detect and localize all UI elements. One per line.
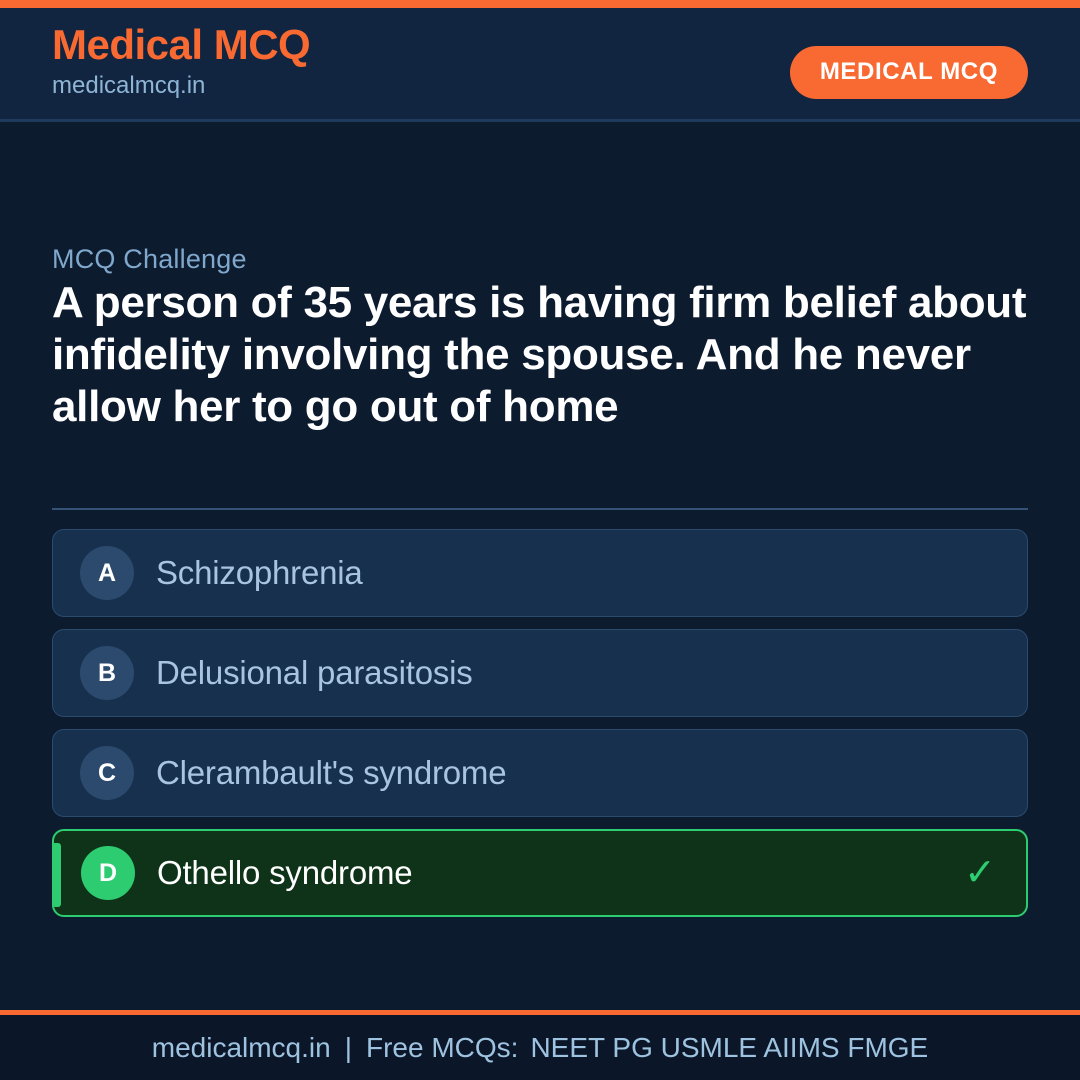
option-letter-badge: A bbox=[80, 546, 134, 600]
header-badge: MEDICAL MCQ bbox=[790, 46, 1028, 99]
top-accent-bar bbox=[0, 0, 1080, 8]
footer-exams-label: Free MCQs: bbox=[366, 1032, 518, 1064]
main-content: MCQ Challenge A person of 35 years is ha… bbox=[0, 125, 1080, 1010]
option-label: Schizophrenia bbox=[156, 554, 363, 592]
option-letter-badge: C bbox=[80, 746, 134, 800]
option-label: Othello syndrome bbox=[157, 854, 412, 892]
question-divider bbox=[52, 508, 1028, 510]
page-footer: medicalmcq.in | Free MCQs: NEET PG USMLE… bbox=[0, 1010, 1080, 1080]
option-letter-badge: D bbox=[81, 846, 135, 900]
footer-site: medicalmcq.in bbox=[152, 1032, 331, 1064]
option-c[interactable]: C Clerambault's syndrome bbox=[52, 729, 1028, 817]
options-list: A Schizophrenia B Delusional parasitosis… bbox=[52, 529, 1028, 929]
option-letter-badge: B bbox=[80, 646, 134, 700]
correct-accent-bar bbox=[54, 843, 61, 907]
option-b[interactable]: B Delusional parasitosis bbox=[52, 629, 1028, 717]
brand-block: Medical MCQ medicalmcq.in bbox=[52, 22, 310, 104]
option-d[interactable]: D Othello syndrome ✓ bbox=[52, 829, 1028, 917]
footer-exams: NEET PG USMLE AIIMS FMGE bbox=[518, 1032, 928, 1064]
page-header: Medical MCQ medicalmcq.in MEDICAL MCQ bbox=[0, 8, 1080, 122]
brand-title: Medical MCQ bbox=[52, 22, 310, 67]
option-a[interactable]: A Schizophrenia bbox=[52, 529, 1028, 617]
mcq-challenge-label: MCQ Challenge bbox=[52, 244, 247, 275]
footer-separator: | bbox=[331, 1032, 366, 1064]
option-label: Delusional parasitosis bbox=[156, 654, 473, 692]
checkmark-icon: ✓ bbox=[964, 854, 996, 892]
question-text: A person of 35 years is having firm beli… bbox=[52, 277, 1042, 433]
option-label: Clerambault's syndrome bbox=[156, 754, 506, 792]
brand-subtitle: medicalmcq.in bbox=[52, 68, 310, 104]
